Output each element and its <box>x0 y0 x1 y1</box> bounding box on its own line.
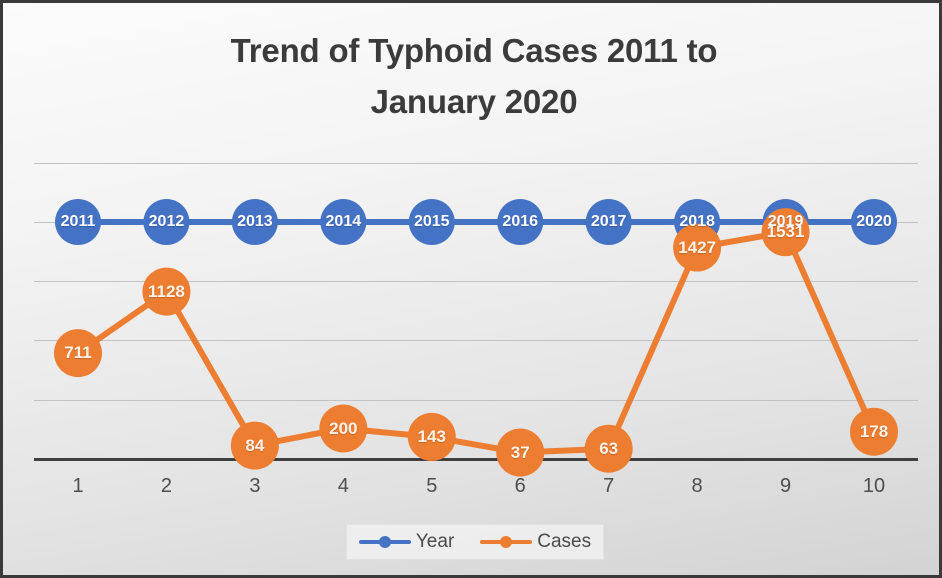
data-point-marker[interactable] <box>497 199 543 245</box>
legend-label-cases: Cases <box>537 531 591 553</box>
data-point-marker[interactable] <box>143 199 189 245</box>
plot-area: 2011201220132014201520162017201820192020… <box>34 153 918 463</box>
chart-legend: Year Cases <box>346 524 604 560</box>
data-point-marker[interactable] <box>496 429 544 477</box>
data-point-marker[interactable] <box>409 199 455 245</box>
data-point-marker[interactable] <box>762 208 810 256</box>
data-point-marker[interactable] <box>586 199 632 245</box>
chart-title: Trend of Typhoid Cases 2011 to January 2… <box>3 25 942 127</box>
x-axis-tick-label: 8 <box>692 475 703 498</box>
x-axis-tick-label: 2 <box>161 475 172 498</box>
legend-line-marker-icon <box>359 535 411 549</box>
x-axis-ticks: 12345678910 <box>34 475 918 507</box>
legend-item-year[interactable]: Year <box>359 531 454 553</box>
data-point-marker[interactable] <box>54 329 102 377</box>
data-point-marker[interactable] <box>142 268 190 316</box>
data-point-marker[interactable] <box>232 199 278 245</box>
cases-series-line <box>78 232 874 452</box>
data-point-marker[interactable] <box>585 425 633 473</box>
x-axis-tick-label: 7 <box>603 475 614 498</box>
legend-label-year: Year <box>416 531 454 553</box>
legend-item-cases[interactable]: Cases <box>480 531 591 553</box>
data-point-marker[interactable] <box>851 199 897 245</box>
x-axis-tick-label: 10 <box>863 475 885 498</box>
legend-line-marker-icon <box>480 535 532 549</box>
data-point-marker[interactable] <box>319 405 367 453</box>
x-axis-tick-label: 6 <box>515 475 526 498</box>
x-axis-tick-label: 9 <box>780 475 791 498</box>
x-axis-tick-label: 3 <box>249 475 260 498</box>
data-point-marker[interactable] <box>55 199 101 245</box>
data-point-marker[interactable] <box>673 224 721 272</box>
series-plot <box>34 153 918 463</box>
chart-container: Trend of Typhoid Cases 2011 to January 2… <box>0 0 942 578</box>
x-axis-tick-label: 5 <box>426 475 437 498</box>
data-point-marker[interactable] <box>850 408 898 456</box>
data-point-marker[interactable] <box>408 413 456 461</box>
cases-series-markers <box>54 208 898 476</box>
data-point-marker[interactable] <box>231 422 279 470</box>
x-axis-tick-label: 1 <box>72 475 83 498</box>
data-point-marker[interactable] <box>320 199 366 245</box>
x-axis-tick-label: 4 <box>338 475 349 498</box>
